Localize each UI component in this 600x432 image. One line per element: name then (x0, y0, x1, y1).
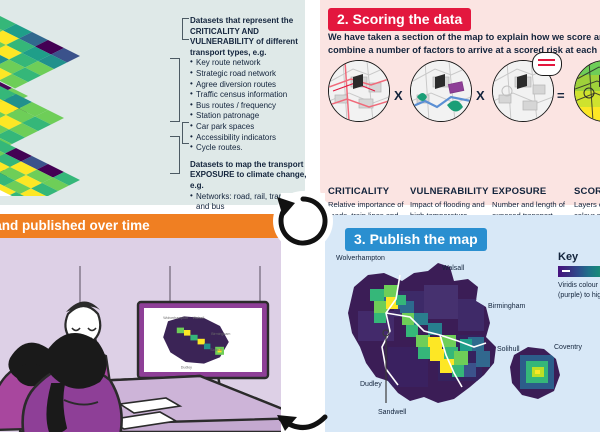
map-label-sandwell: Sandwell (378, 409, 406, 416)
svg-text:Walsall: Walsall (193, 316, 205, 320)
section-2-intro: We have taken a section of the map to ex… (328, 31, 600, 56)
update-banner-text: Datasets are updated and published over … (0, 214, 290, 238)
list-item: Car park spaces (190, 122, 318, 133)
dataset-group-1-header: Datasets that represent the CRITICALITY … (190, 16, 318, 58)
west-midlands-risk-map (328, 251, 563, 421)
svg-text:Dudley: Dudley (181, 365, 192, 369)
svg-text:Solihull: Solihull (210, 348, 222, 352)
map-label-solihull: Solihull (497, 346, 520, 353)
section-scoring-the-data: 2. Scoring the data We have taken a sect… (320, 0, 600, 205)
list-item: Station patronage (190, 111, 318, 122)
list-item: Cycle routes. (190, 143, 318, 154)
operator-multiply-2: X (476, 88, 485, 103)
section-3-heading: 3. Publish the map (345, 228, 487, 251)
list-item: Agree diversion routes (190, 80, 318, 91)
bracket-group2 (182, 122, 189, 144)
section-2-heading: 2. Scoring the data (328, 8, 471, 31)
infographic-canvas: 1. Data collection A range of different … (0, 0, 600, 432)
list-item: Key route network (190, 58, 318, 69)
list-item: Bus routes / frequency (190, 101, 318, 112)
factor-criticality: CRITICALITY Relative importance of roads… (328, 60, 390, 122)
factor-criticality-title: CRITICALITY (328, 186, 389, 197)
list-item: Networks: road, rail, tram, cycle and bu… (190, 192, 318, 213)
section-1-dataset-lists: Datasets that represent the CRITICALITY … (190, 16, 318, 234)
map-key-description: Viridis colour scale from low (purple) t… (558, 281, 600, 300)
factor-score: SCORE Layers combined and colour scale a… (574, 60, 600, 122)
operator-multiply-1: X (394, 88, 403, 103)
map-label-wolverhampton: Wolverhampton (336, 255, 385, 262)
factor-vulnerability-title: VULNERABILITY (410, 186, 489, 197)
bracket-right-top (170, 58, 180, 122)
minus-icon (562, 270, 570, 273)
data-layer-stacks (0, 16, 120, 196)
section-action-engagement: 4. Action engagement The map is used to … (0, 238, 305, 432)
bracket-group1 (182, 18, 189, 40)
map-label-birmingham: Birmingham (488, 303, 525, 310)
svg-text:Wolverhampton: Wolverhampton (163, 316, 188, 320)
update-banner: Datasets are updated and published over … (0, 214, 290, 238)
map-label-walsall: Walsall (442, 265, 464, 272)
map-label-dudley: Dudley (360, 381, 382, 388)
magnifier-callout-icon (532, 52, 562, 76)
map-criticality-icon (328, 60, 390, 122)
list-item: Strategic road network (190, 69, 318, 80)
operator-equals: = (557, 88, 565, 103)
factor-score-title: SCORE (574, 186, 600, 197)
dataset-group-1-list: Key route network Strategic road network… (190, 58, 318, 153)
list-item: Accessibility indicators (190, 133, 318, 144)
map-score-icon (574, 60, 600, 122)
svg-text:Birmingham: Birmingham (211, 332, 230, 336)
map-vulnerability-icon (410, 60, 472, 122)
dataset-group-2-header: Datasets to map the transport EXPOSURE t… (190, 160, 318, 192)
section-2-intro-line-1: We have taken a section of the map to ex… (328, 31, 600, 44)
list-item: Traffic census information (190, 90, 318, 101)
map-key-title: Key (558, 251, 578, 263)
factor-exposure-title: EXPOSURE (492, 186, 546, 197)
factor-exposure: EXPOSURE Number and length of exposed tr… (492, 60, 554, 122)
factor-vulnerability: VULNERABILITY Impact of flooding and hig… (410, 60, 472, 122)
map-label-coventry: Coventry (554, 344, 582, 351)
section-2-intro-line-2: combine a number of factors to arrive at… (328, 44, 600, 57)
meeting-room-illustration: WolverhamptonWalsall BirminghamSolihull … (0, 266, 305, 432)
bracket-right-bottom (170, 136, 180, 174)
section-publish-the-map: 3. Publish the map (320, 215, 600, 432)
section-data-collection: 1. Data collection A range of different … (0, 0, 305, 205)
